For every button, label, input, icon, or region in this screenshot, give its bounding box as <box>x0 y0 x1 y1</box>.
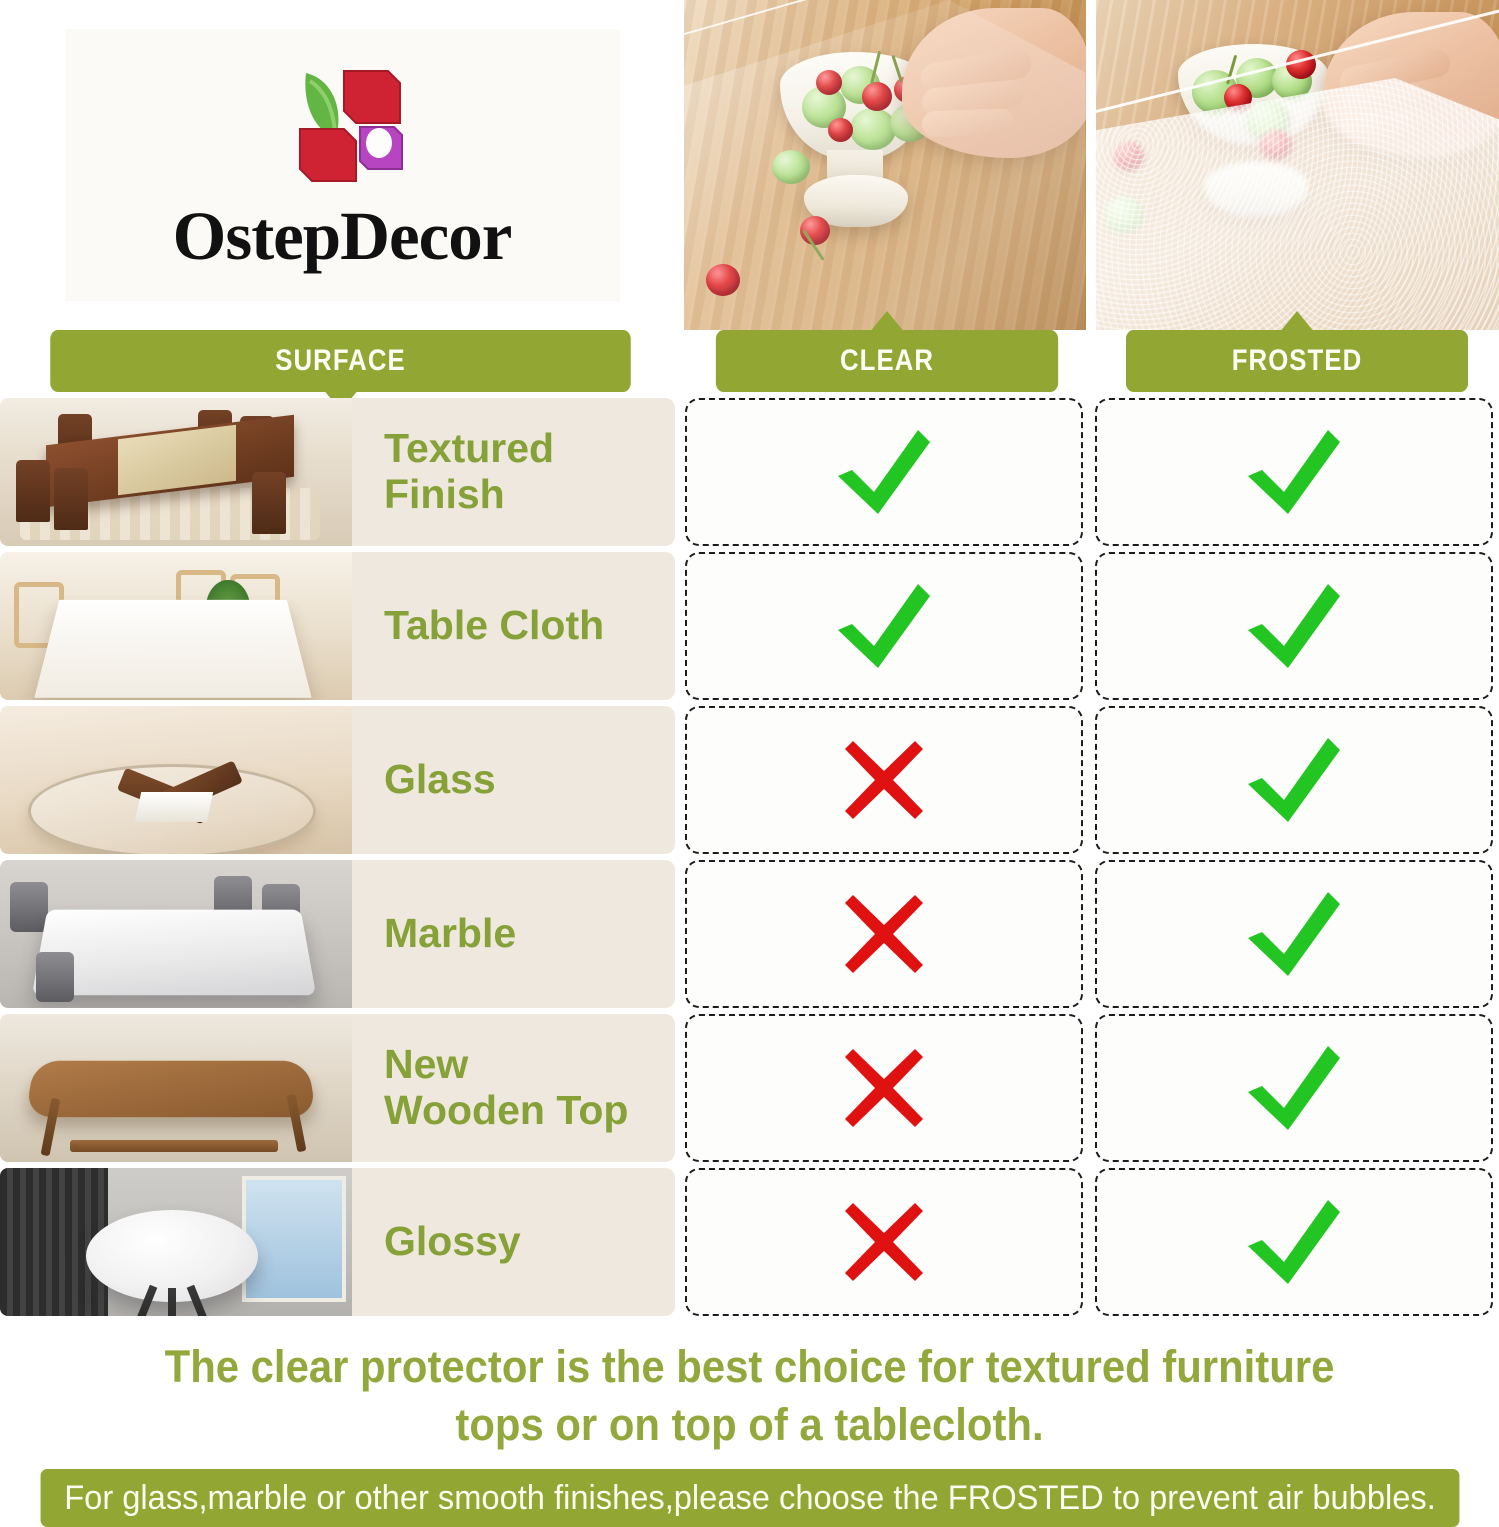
header-clear-label: CLEAR <box>840 344 934 378</box>
header-surface: SURFACE <box>50 330 631 392</box>
cell-frosted-marble <box>1095 860 1493 1008</box>
surface-thumbnail-marble <box>0 860 352 1008</box>
surface-label-cell: Table Cloth <box>352 552 675 700</box>
table-row: New Wooden Top <box>0 1014 1499 1162</box>
clear-product-photo <box>684 0 1085 330</box>
surface-thumbnail-glass <box>0 706 352 854</box>
clear-pointer-up-icon <box>870 311 904 332</box>
brand-logo-cell: OstepDecor <box>0 0 684 330</box>
header-frosted: FROSTED <box>1126 330 1468 392</box>
surface-label-cell: Marble <box>352 860 675 1008</box>
frosted-product-photo <box>1096 0 1499 330</box>
header-surface-label: SURFACE <box>275 344 406 378</box>
summary-text: The clear protector is the best choice f… <box>52 1338 1446 1453</box>
check-icon <box>1242 1196 1346 1288</box>
table-row: Glossy <box>0 1168 1499 1316</box>
cell-frosted-glossy <box>1095 1168 1493 1316</box>
surface-label-cell: New Wooden Top <box>352 1014 675 1162</box>
check-icon <box>1242 426 1346 518</box>
surface-thumbnail-new-wooden-top <box>0 1014 352 1162</box>
summary-line-2: tops or on top of a tablecloth. <box>52 1396 1446 1454</box>
table-row: Marble <box>0 860 1499 1008</box>
cross-icon <box>841 1199 927 1285</box>
top-media-strip: OstepDecor <box>0 0 1499 330</box>
check-icon <box>1242 580 1346 672</box>
summary-line-1: The clear protector is the best choice f… <box>52 1338 1446 1396</box>
leaf-and-squares-logo-icon <box>262 65 422 200</box>
cell-frosted-table-cloth <box>1095 552 1493 700</box>
surface-label: Glossy <box>384 1219 521 1265</box>
cell-clear-glossy <box>685 1168 1083 1316</box>
table-row: Textured Finish <box>0 398 1499 546</box>
header-frosted-label: FROSTED <box>1232 344 1363 378</box>
cell-frosted-new-wooden-top <box>1095 1014 1493 1162</box>
table-row: Table Cloth <box>0 552 1499 700</box>
cell-frosted-textured-finish <box>1095 398 1493 546</box>
cell-clear-new-wooden-top <box>685 1014 1083 1162</box>
check-icon <box>1242 734 1346 826</box>
frosted-pointer-up-icon <box>1280 311 1314 332</box>
surface-thumbnail-textured-finish <box>0 398 352 546</box>
check-icon <box>832 580 936 672</box>
cell-clear-marble <box>685 860 1083 1008</box>
frosted-recommendation-banner: For glass,marble or other smooth finishe… <box>40 1469 1459 1527</box>
surface-label-cell: Glossy <box>352 1168 675 1316</box>
cell-clear-textured-finish <box>685 398 1083 546</box>
cell-frosted-glass <box>1095 706 1493 854</box>
surface-label: Table Cloth <box>384 603 604 649</box>
surface-label: New Wooden Top <box>384 1042 628 1134</box>
surface-thumbnail-glossy <box>0 1168 352 1316</box>
cell-clear-table-cloth <box>685 552 1083 700</box>
check-icon <box>1242 888 1346 980</box>
surface-label: Glass <box>384 757 496 803</box>
check-icon <box>832 426 936 518</box>
table-row: Glass <box>0 706 1499 854</box>
cross-icon <box>841 1045 927 1131</box>
cross-icon <box>841 737 927 823</box>
surface-thumbnail-table-cloth <box>0 552 352 700</box>
cross-icon <box>841 891 927 977</box>
surface-label: Textured Finish <box>384 426 554 518</box>
surface-label: Marble <box>384 911 516 957</box>
surface-label-cell: Glass <box>352 706 675 854</box>
header-clear: CLEAR <box>716 330 1058 392</box>
check-icon <box>1242 1042 1346 1134</box>
column-header-row: SURFACE CLEAR FROSTED <box>0 330 1499 392</box>
cell-clear-glass <box>685 706 1083 854</box>
surface-label-cell: Textured Finish <box>352 398 675 546</box>
brand-wordmark: OstepDecor <box>173 202 512 271</box>
banner-text: For glass,marble or other smooth finishe… <box>64 1479 1436 1518</box>
